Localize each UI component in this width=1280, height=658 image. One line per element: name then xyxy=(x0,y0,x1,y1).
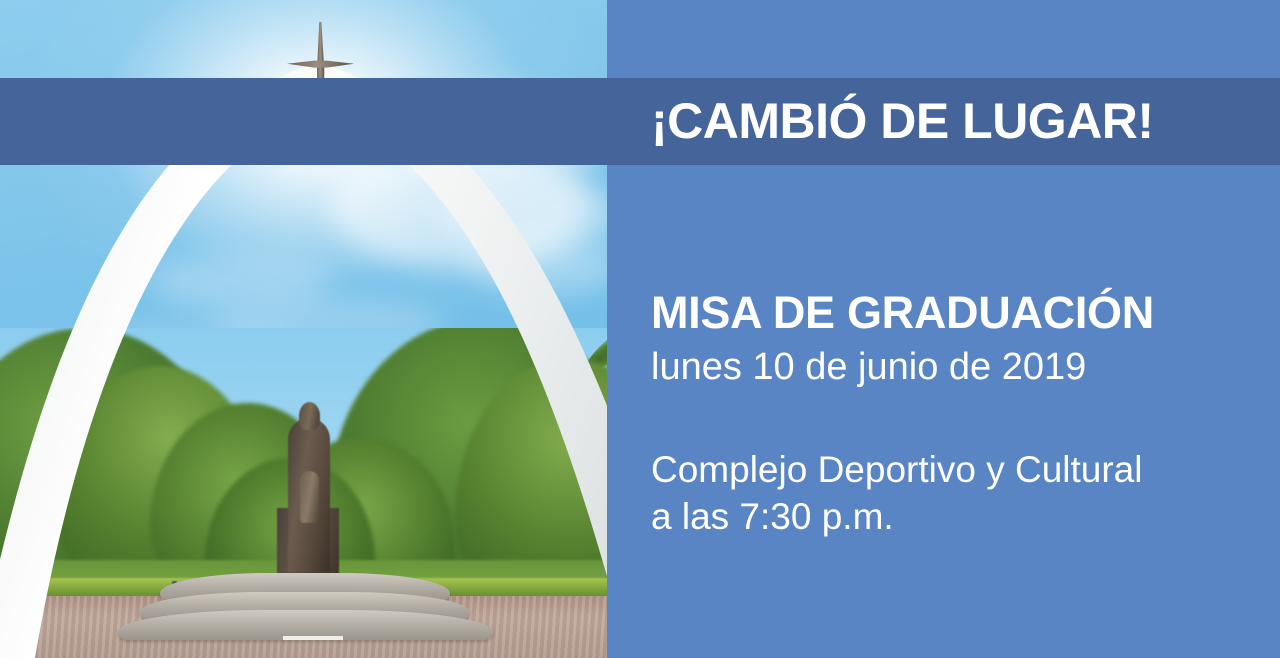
headline-text: ¡CAMBIÓ DE LUGAR! xyxy=(651,78,1154,165)
event-announcement-poster: ¡CAMBIÓ DE LUGAR! MISA DE GRADUACIÓN lun… xyxy=(0,0,1280,658)
spacer xyxy=(651,388,1261,446)
event-title: MISA DE GRADUACIÓN xyxy=(651,290,1261,336)
event-time: a las 7:30 p.m. xyxy=(651,493,1261,540)
event-venue: Complejo Deportivo y Cultural xyxy=(651,446,1261,493)
event-details-block: MISA DE GRADUACIÓN lunes 10 de junio de … xyxy=(651,290,1261,541)
headline-band: ¡CAMBIÓ DE LUGAR! xyxy=(0,78,1280,165)
event-date: lunes 10 de junio de 2019 xyxy=(651,348,1261,388)
info-panel: ¡CAMBIÓ DE LUGAR! MISA DE GRADUACIÓN lun… xyxy=(607,0,1280,658)
